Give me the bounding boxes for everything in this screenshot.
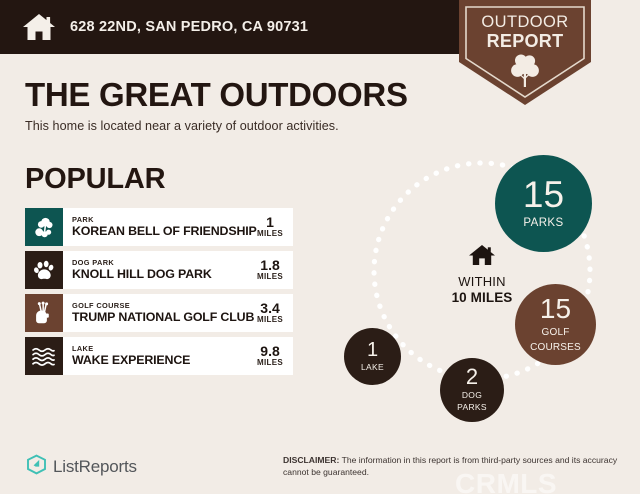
footer: ListReports DISCLAIMER: The information … bbox=[0, 446, 640, 494]
distance-unit: MILES bbox=[257, 273, 283, 281]
bubble-label: LAKE bbox=[361, 363, 384, 372]
distance-unit: MILES bbox=[257, 230, 283, 238]
distance-value: 1 bbox=[257, 215, 283, 230]
within-radius-diagram: 15 PARKS 15 GOLF COURSES 1 LAKE 2 DOG PA… bbox=[330, 148, 640, 438]
list-item-distance: 1.8 MILES bbox=[257, 258, 293, 281]
radius-text: 10 MILES bbox=[427, 290, 537, 305]
list-item-name: KOREAN BELL OF FRIENDSHIP bbox=[72, 225, 257, 239]
list-item[interactable]: DOG PARK KNOLL HILL DOG PARK 1.8 MILES bbox=[25, 251, 293, 289]
bubble-count: 15 bbox=[540, 296, 571, 323]
list-item-text: PARK KOREAN BELL OF FRIENDSHIP bbox=[63, 215, 257, 238]
disclaimer-label: DISCLAIMER: bbox=[283, 455, 339, 465]
bubble-label: PARKS bbox=[523, 217, 563, 230]
list-item-name: WAKE EXPERIENCE bbox=[72, 354, 257, 368]
list-item-text: GOLF COURSE TRUMP NATIONAL GOLF CLUB bbox=[63, 301, 257, 324]
popular-heading: POPULAR bbox=[25, 163, 165, 196]
listreports-logo[interactable]: ListReports bbox=[26, 454, 137, 480]
list-item[interactable]: GOLF COURSE TRUMP NATIONAL GOLF CLUB 3.4… bbox=[25, 294, 293, 332]
home-icon bbox=[427, 243, 537, 272]
property-address: 628 22ND, SAN PEDRO, CA 90731 bbox=[70, 19, 308, 35]
list-item-distance: 3.4 MILES bbox=[257, 301, 293, 324]
page-title: THE GREAT OUTDOORS bbox=[25, 78, 455, 113]
bubble-count: 15 bbox=[523, 177, 564, 212]
bubble-parks[interactable]: 15 PARKS bbox=[495, 155, 592, 252]
page-subtitle: This home is located near a variety of o… bbox=[25, 119, 455, 133]
bubble-dog-parks[interactable]: 2 DOG PARKS bbox=[440, 358, 504, 422]
bubble-count: 2 bbox=[466, 367, 478, 388]
list-item[interactable]: LAKE WAKE EXPERIENCE 9.8 MILES bbox=[25, 337, 293, 375]
home-icon bbox=[22, 12, 56, 42]
outdoor-report-badge: OUTDOOR REPORT bbox=[459, 0, 591, 105]
list-item-name: KNOLL HILL DOG PARK bbox=[72, 268, 257, 282]
list-item-text: LAKE WAKE EXPERIENCE bbox=[63, 344, 257, 367]
list-item-distance: 1 MILES bbox=[257, 215, 293, 238]
bubble-lake[interactable]: 1 LAKE bbox=[344, 328, 401, 385]
diagram-center-label: WITHIN 10 MILES bbox=[427, 243, 537, 305]
distance-value: 9.8 bbox=[257, 344, 283, 359]
bubble-label-line1: DOG bbox=[462, 391, 482, 400]
golf-bag-icon bbox=[25, 294, 63, 332]
park-trees-icon bbox=[25, 208, 63, 246]
list-item-distance: 9.8 MILES bbox=[257, 344, 293, 367]
list-item[interactable]: PARK KOREAN BELL OF FRIENDSHIP 1 MILES bbox=[25, 208, 293, 246]
list-item-text: DOG PARK KNOLL HILL DOG PARK bbox=[63, 258, 257, 281]
water-waves-icon bbox=[25, 337, 63, 375]
bubble-label-line2: COURSES bbox=[530, 342, 581, 353]
intro-block: THE GREAT OUTDOORS This home is located … bbox=[25, 78, 455, 133]
list-item-name: TRUMP NATIONAL GOLF CLUB bbox=[72, 311, 257, 325]
crmls-watermark: CRMLS bbox=[455, 468, 557, 494]
popular-list: PARK KOREAN BELL OF FRIENDSHIP 1 MILES D… bbox=[25, 208, 293, 380]
disclaimer: DISCLAIMER: The information in this repo… bbox=[283, 454, 623, 478]
outdoor-report-page: 628 22ND, SAN PEDRO, CA 90731 OUTDOOR RE… bbox=[0, 0, 640, 494]
bubble-label-line2: PARKS bbox=[457, 403, 487, 412]
bubble-count: 1 bbox=[367, 341, 378, 360]
distance-unit: MILES bbox=[257, 359, 283, 367]
header-bar: 628 22ND, SAN PEDRO, CA 90731 bbox=[0, 0, 459, 54]
distance-value: 1.8 bbox=[257, 258, 283, 273]
distance-value: 3.4 bbox=[257, 301, 283, 316]
within-text: WITHIN bbox=[427, 275, 537, 290]
distance-unit: MILES bbox=[257, 316, 283, 324]
paw-print-icon bbox=[25, 251, 63, 289]
bubble-label-line1: GOLF bbox=[541, 327, 569, 338]
badge-shape-icon bbox=[459, 0, 591, 105]
listreports-brand-text: ListReports bbox=[53, 457, 137, 477]
listreports-logo-icon bbox=[26, 454, 47, 480]
